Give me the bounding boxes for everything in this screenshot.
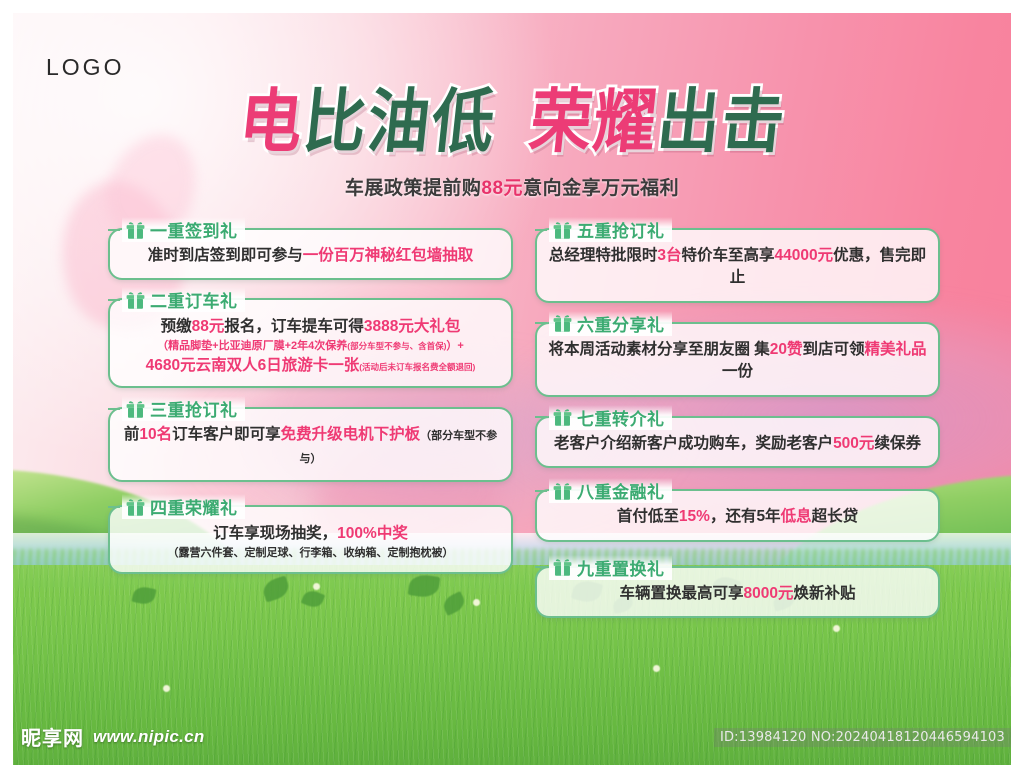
gift-card-title: 三重抢订礼 xyxy=(150,396,238,421)
header-ribbon-dash xyxy=(535,322,547,324)
gift-card-line: 4680元云南双人6日旅游卡一张(活动后未订车报名费全额退回) xyxy=(120,355,501,377)
gift-card-line: 预缴88元报名，订车提车可得3888元大礼包 xyxy=(120,316,501,338)
gift-card-body: 准时到店签到即可参与一份百万神秘红包墙抽取 xyxy=(122,245,499,267)
body-text: 续保券 xyxy=(874,435,921,452)
header-ribbon-dash xyxy=(535,229,547,231)
body-text: 焕新补贴 xyxy=(793,585,855,602)
gift-card-line: 首付低至15%，还有5年低息超长贷 xyxy=(547,506,928,528)
highlight-text: 100%中奖 xyxy=(337,525,408,542)
subtitle-before: 车展政策提前购 xyxy=(345,178,482,199)
gift-card-title: 四重荣耀礼 xyxy=(150,494,238,519)
gift-card: 一重签到礼准时到店签到即可参与一份百万神秘红包墙抽取 xyxy=(108,228,513,280)
highlight-text: 3台 xyxy=(657,247,681,264)
gift-card-title: 一重签到礼 xyxy=(150,217,238,242)
header-ribbon-dash xyxy=(535,566,547,568)
meadow-leaf xyxy=(440,591,467,616)
gift-card-line: 将本周活动素材分享至朋友圈 集20赞到店可领精美礼品一份 xyxy=(545,339,930,384)
body-text: 将本周活动素材分享至朋友圈 集 xyxy=(548,341,769,358)
poster-canvas: LOGO 电比油低荣耀出击 车展政策提前购88元意向金享万元福利 一重签到礼准时… xyxy=(13,13,1011,765)
gift-card-body: 将本周活动素材分享至朋友圈 集20赞到店可领精美礼品一份 xyxy=(545,339,930,384)
body-text: 首付低至 xyxy=(617,508,679,525)
body-text: 预缴 xyxy=(161,318,192,335)
gift-card-header: 三重抢订礼 xyxy=(122,396,245,421)
gift-card-column-right: 五重抢订礼总经理特批限时3台特价车至高享44000元优惠，售完即止六重分享礼将本… xyxy=(535,228,940,631)
meadow-leaf xyxy=(301,588,326,610)
gift-card-body: 预缴88元报名，订车提车可得3888元大礼包（精品脚垫+比亚迪原厂膜+2年4次保… xyxy=(120,316,501,377)
headline-char: 电 xyxy=(235,87,306,156)
gift-card-title: 九重置换礼 xyxy=(577,555,665,580)
gift-card-body: 首付低至15%，还有5年低息超长贷 xyxy=(547,506,928,528)
gift-icon xyxy=(553,314,572,332)
gift-card: 六重分享礼将本周活动素材分享至朋友圈 集20赞到店可领精美礼品一份 xyxy=(535,322,940,397)
gift-icon xyxy=(126,221,145,239)
gift-card-body: 订车享现场抽奖，100%中奖（露营六件套、定制足球、行李箱、收纳箱、定制抱枕被） xyxy=(120,523,501,561)
gift-card-header: 五重抢订礼 xyxy=(549,217,672,242)
gift-card-line: 准时到店签到即可参与一份百万神秘红包墙抽取 xyxy=(122,245,499,267)
gift-card: 九重置换礼车辆置换最高可享8000元焕新补贴 xyxy=(535,566,940,618)
highlight-text: 一份百万神秘红包墙抽取 xyxy=(303,247,474,264)
highlight-text: ）+ xyxy=(446,340,463,352)
highlight-text: 8000元 xyxy=(744,585,794,602)
body-text: 超长贷 xyxy=(812,508,859,525)
gift-card-line: （露营六件套、定制足球、行李箱、收纳箱、定制抱枕被） xyxy=(120,546,501,562)
gift-card-title: 五重抢订礼 xyxy=(577,217,665,242)
highlight-text: 500元 xyxy=(833,435,874,452)
gift-card-header: 一重签到礼 xyxy=(122,217,245,242)
body-text: ，还有5年 xyxy=(710,508,781,525)
gift-card-title: 六重分享礼 xyxy=(577,311,665,336)
headline-char: 低 xyxy=(427,87,498,156)
header-ribbon-dash xyxy=(108,506,120,508)
body-text: 订车享现场抽奖， xyxy=(213,525,337,542)
page-subtitle: 车展政策提前购88元意向金享万元福利 xyxy=(13,173,1011,200)
gift-card-title: 二重订车礼 xyxy=(150,287,238,312)
body-text: 前 xyxy=(124,426,140,443)
gift-card-column-left: 一重签到礼准时到店签到即可参与一份百万神秘红包墙抽取二重订车礼预缴88元报名，订… xyxy=(108,228,513,587)
subtitle-after: 意向金享万元福利 xyxy=(523,178,679,199)
body-text: （露营六件套、定制足球、行李箱、收纳箱、定制抱枕被） xyxy=(168,547,454,559)
gift-card: 三重抢订礼前10名订车客户即可享免费升级电机下护板（部分车型不参与） xyxy=(108,407,513,482)
gift-card: 五重抢订礼总经理特批限时3台特价车至高享44000元优惠，售完即止 xyxy=(535,228,940,303)
gift-card: 二重订车礼预缴88元报名，订车提车可得3888元大礼包（精品脚垫+比亚迪原厂膜+… xyxy=(108,298,513,388)
highlight-text: 精美礼品 xyxy=(865,341,927,358)
page-title: 电比油低荣耀出击 xyxy=(13,91,1011,153)
body-text: 特价车至高享 xyxy=(682,247,775,264)
gift-card-header: 七重转介礼 xyxy=(549,405,672,430)
watermark-site-name: 昵享网 xyxy=(21,722,84,751)
headline-char: 油 xyxy=(363,87,434,156)
body-text: 车辆置换最高可享 xyxy=(619,585,743,602)
gift-icon xyxy=(126,400,145,418)
gift-card: 四重荣耀礼订车享现场抽奖，100%中奖（露营六件套、定制足球、行李箱、收纳箱、定… xyxy=(108,505,513,573)
gift-card-line: 老客户介绍新客户成功购车，奖励老客户500元续保券 xyxy=(547,433,928,455)
watermark-image-id: ID:13984120 NO:20240418120446594103 xyxy=(714,728,1011,747)
highlight-text: 低息 xyxy=(781,508,812,525)
highlight-text: 20赞 xyxy=(770,341,803,358)
body-text: 一份 xyxy=(722,363,753,380)
subtitle-highlight: 88元 xyxy=(481,178,523,199)
watermark-site-url: www.nipic.cn xyxy=(93,727,205,747)
gift-card-body: 老客户介绍新客户成功购车，奖励老客户500元续保券 xyxy=(547,433,928,455)
gift-card-line: 总经理特批限时3台特价车至高享44000元优惠，售完即止 xyxy=(545,245,930,290)
headline-char: 耀 xyxy=(589,87,660,156)
headline-char: 比 xyxy=(299,87,370,156)
header-ribbon-dash xyxy=(108,299,120,301)
gift-card-header: 四重荣耀礼 xyxy=(122,494,245,519)
highlight-text: 88元 xyxy=(192,318,225,335)
highlight-text: 15% xyxy=(679,508,710,525)
gift-icon xyxy=(553,482,572,500)
gift-card-title: 七重转介礼 xyxy=(577,405,665,430)
gift-card-title: 八重金融礼 xyxy=(577,478,665,503)
body-text: 准时到店签到即可参与 xyxy=(148,247,303,264)
highlight-text: (活动后未订车报名费全额退回) xyxy=(359,362,475,372)
highlight-text: 10名 xyxy=(139,426,172,443)
gift-card-body: 总经理特批限时3台特价车至高享44000元优惠，售完即止 xyxy=(545,245,930,290)
gift-icon xyxy=(553,221,572,239)
gift-card-body: 车辆置换最高可享8000元焕新补贴 xyxy=(547,583,928,605)
body-text: 到店可领 xyxy=(803,341,865,358)
body-text: 订车客户即可享 xyxy=(172,426,281,443)
headline-char: 击 xyxy=(717,87,788,156)
highlight-text: （精品脚垫+比亚迪原厂膜+2年4次保养 xyxy=(157,340,347,352)
header-ribbon-dash xyxy=(535,416,547,418)
body-text: 老客户介绍新客户成功购车，奖励老客户 xyxy=(554,435,833,452)
meadow-flower xyxy=(473,599,480,606)
gift-card: 七重转介礼老客户介绍新客户成功购车，奖励老客户500元续保券 xyxy=(535,416,940,468)
highlight-text: 免费升级电机下护板 xyxy=(281,426,421,443)
gift-icon xyxy=(553,408,572,426)
gift-card-line: （精品脚垫+比亚迪原厂膜+2年4次保养(部分车型不参与、含首保)）+ xyxy=(120,339,501,355)
watermark-site: 昵享网 www.nipic.cn xyxy=(21,722,205,751)
gift-card-line: 车辆置换最高可享8000元焕新补贴 xyxy=(547,583,928,605)
header-ribbon-dash xyxy=(108,229,120,231)
gift-card-header: 八重金融礼 xyxy=(549,478,672,503)
meadow-flower xyxy=(653,665,660,672)
body-text: 报名，订车提车可得 xyxy=(224,318,364,335)
gift-card-header: 九重置换礼 xyxy=(549,555,672,580)
gift-card-body: 前10名订车客户即可享免费升级电机下护板（部分车型不参与） xyxy=(118,424,503,469)
highlight-text: (部分车型不参与、含首保) xyxy=(347,341,446,351)
headline-char: 荣 xyxy=(525,87,596,156)
header-ribbon-dash xyxy=(535,490,547,492)
gift-icon xyxy=(126,291,145,309)
header-ribbon-dash xyxy=(108,408,120,410)
highlight-text: 4680元云南双人6日旅游卡一张 xyxy=(146,357,360,374)
highlight-text: 44000元 xyxy=(775,247,834,264)
headline-char: 出 xyxy=(653,87,724,156)
gift-card-line: 订车享现场抽奖，100%中奖 xyxy=(120,523,501,545)
gift-icon xyxy=(126,498,145,516)
gift-icon xyxy=(553,558,572,576)
body-text: 总经理特批限时 xyxy=(549,247,658,264)
gift-card-line: 前10名订车客户即可享免费升级电机下护板（部分车型不参与） xyxy=(118,424,503,469)
gift-card-header: 二重订车礼 xyxy=(122,287,245,312)
highlight-text: 3888元大礼包 xyxy=(364,318,460,335)
gift-card-header: 六重分享礼 xyxy=(549,311,672,336)
brand-logo: LOGO xyxy=(46,54,124,81)
gift-card: 八重金融礼首付低至15%，还有5年低息超长贷 xyxy=(535,489,940,541)
meadow-flower xyxy=(163,685,170,692)
